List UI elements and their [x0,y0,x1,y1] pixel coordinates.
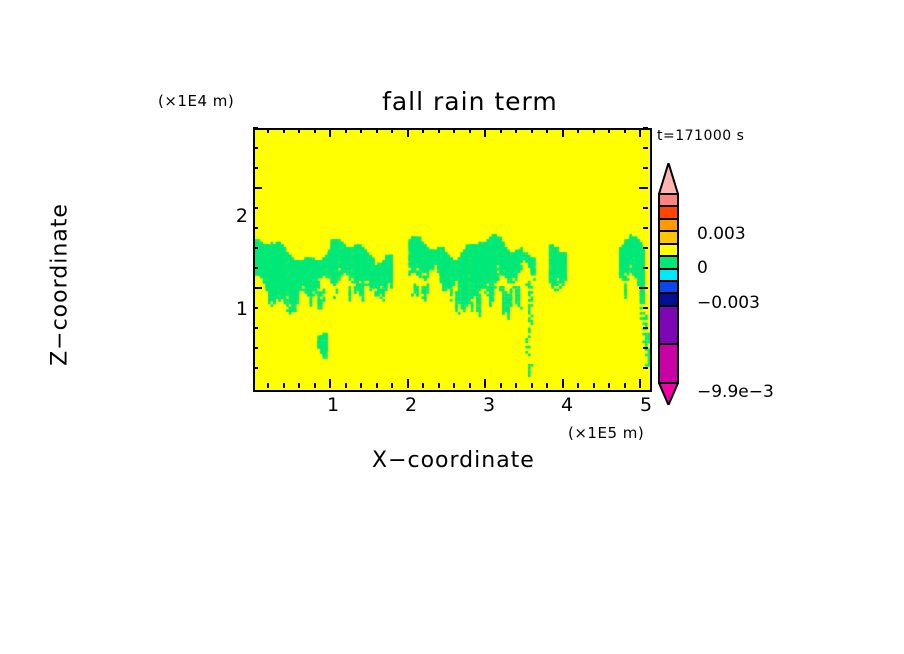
x-tick-bottom-minor [531,383,533,388]
y-tick-left-minor [253,227,258,229]
x-tick-bottom-minor [546,383,548,388]
x-tick-top-minor [298,128,300,133]
y-tick-right-minor [643,227,648,229]
y-tick-right-minor [643,207,648,209]
x-tick-bottom-minor [422,383,424,388]
colorbar-tip-up [658,163,679,194]
y-tick-left-minor [253,127,258,129]
x-tick-top-minor [593,128,595,133]
x-tick-top-minor [453,128,455,133]
y-tick-left-minor [253,347,258,349]
figure-canvas: fall rain term (×1E4 m) t=171000 s (×1E5… [0,0,904,654]
y-tick-left-minor [253,147,258,149]
x-tick-top-minor [500,128,502,133]
x-tick-top-minor [515,128,517,133]
y-axis-title: Z−coordinate [48,165,73,405]
y-tick-right-minor [643,247,648,249]
x-tick-bottom-minor [624,383,626,388]
colorbar-separator [658,205,679,207]
plot-area [253,128,652,392]
heatmap-field [255,130,650,390]
y-tick-left-minor [253,367,258,369]
x-tick-label-5: 5 [631,394,661,416]
x-tick-top-minor [577,128,579,133]
x-tick-bottom-minor [391,383,393,388]
colorbar-separator [658,305,679,307]
y-tick-right-minor [643,307,648,309]
x-tick-bottom-minor [500,383,502,388]
x-tick-bottom-minor [298,383,300,388]
x-tick-bottom-major [329,379,331,388]
x-tick-top-major [407,128,409,137]
x-tick-bottom-major [639,379,641,388]
x-tick-bottom-minor [608,383,610,388]
x-tick-bottom-minor [577,383,579,388]
x-tick-top-minor [422,128,424,133]
x-tick-bottom-major [562,379,564,388]
x-tick-bottom-minor [314,383,316,388]
colorbar-separator [658,268,679,270]
y-tick-right-minor [643,147,648,149]
x-tick-top-minor [531,128,533,133]
time-label: t=171000 s [657,128,744,144]
colorbar-label-3: −0.003 [697,293,760,313]
y-tick-right-minor [643,127,648,129]
x-tick-top-major [639,128,641,137]
y-tick-right-minor [643,167,648,169]
colorbar-label-4: −9.9e−3 [697,382,774,402]
x-tick-bottom-minor [469,383,471,388]
x-tick-label-2: 2 [396,394,426,416]
z-axis-unit-label: (×1E4 m) [158,92,234,110]
colorbar-separator [658,292,679,294]
colorbar-separator [658,230,679,232]
colorbar-tip-down [658,383,679,405]
x-tick-top-minor [546,128,548,133]
x-tick-top-minor [360,128,362,133]
x-tick-top-minor [376,128,378,133]
y-tick-left-minor [253,247,258,249]
x-tick-top-minor [345,128,347,133]
colorbar-band-magenta [658,344,679,383]
y-tick-right-major [639,187,648,189]
y-tick-left-minor [253,307,258,309]
y-tick-left-minor [253,167,258,169]
x-tick-label-3: 3 [474,394,504,416]
colorbar-separator [658,218,679,220]
x-tick-bottom-minor [376,383,378,388]
colorbar-label-2: 0 [697,258,708,278]
y-tick-right-minor [643,267,648,269]
x-tick-bottom-minor [593,383,595,388]
x-tick-bottom-minor [453,383,455,388]
y-tick-left-major [253,187,262,189]
colorbar-separator [658,243,679,245]
x-tick-bottom-major [484,379,486,388]
x-tick-label-1: 1 [318,394,348,416]
x-tick-top-minor [438,128,440,133]
x-tick-top-minor [391,128,393,133]
x-tick-top-minor [608,128,610,133]
y-tick-right-minor [643,367,648,369]
x-tick-top-major [329,128,331,137]
y-tick-left-minor [253,327,258,329]
colorbar-label-1: 0.003 [697,224,746,244]
colorbar-separator [658,255,679,257]
x-tick-bottom-minor [438,383,440,388]
x-tick-bottom-major [407,379,409,388]
x-tick-top-minor [314,128,316,133]
x-axis-title: X−coordinate [372,448,535,473]
x-tick-label-4: 4 [552,394,582,416]
colorbar-separator [658,343,679,345]
x-tick-bottom-minor [515,383,517,388]
x-axis-unit-label: (×1E5 m) [568,424,644,442]
x-tick-top-minor [469,128,471,133]
x-tick-top-major [562,128,564,137]
x-tick-top-minor [624,128,626,133]
colorbar-separator [658,280,679,282]
y-tick-right-minor [643,327,648,329]
y-tick-left-minor [253,267,258,269]
x-tick-top-minor [267,128,269,133]
x-tick-top-major [484,128,486,137]
y-tick-right-minor [643,347,648,349]
x-tick-bottom-minor [283,383,285,388]
y-tick-label-2: 1 [222,298,248,320]
y-tick-label-1: 2 [222,205,248,227]
x-tick-top-minor [283,128,285,133]
y-tick-left-major [253,287,262,289]
title-text: fall rain term [382,87,558,116]
y-tick-left-minor [253,207,258,209]
colorbar [658,163,679,405]
x-tick-bottom-minor [267,383,269,388]
colorbar-band-purple [658,306,679,345]
x-tick-bottom-minor [360,383,362,388]
colorbar-separator [658,193,679,195]
y-tick-right-major [639,287,648,289]
x-tick-bottom-minor [345,383,347,388]
